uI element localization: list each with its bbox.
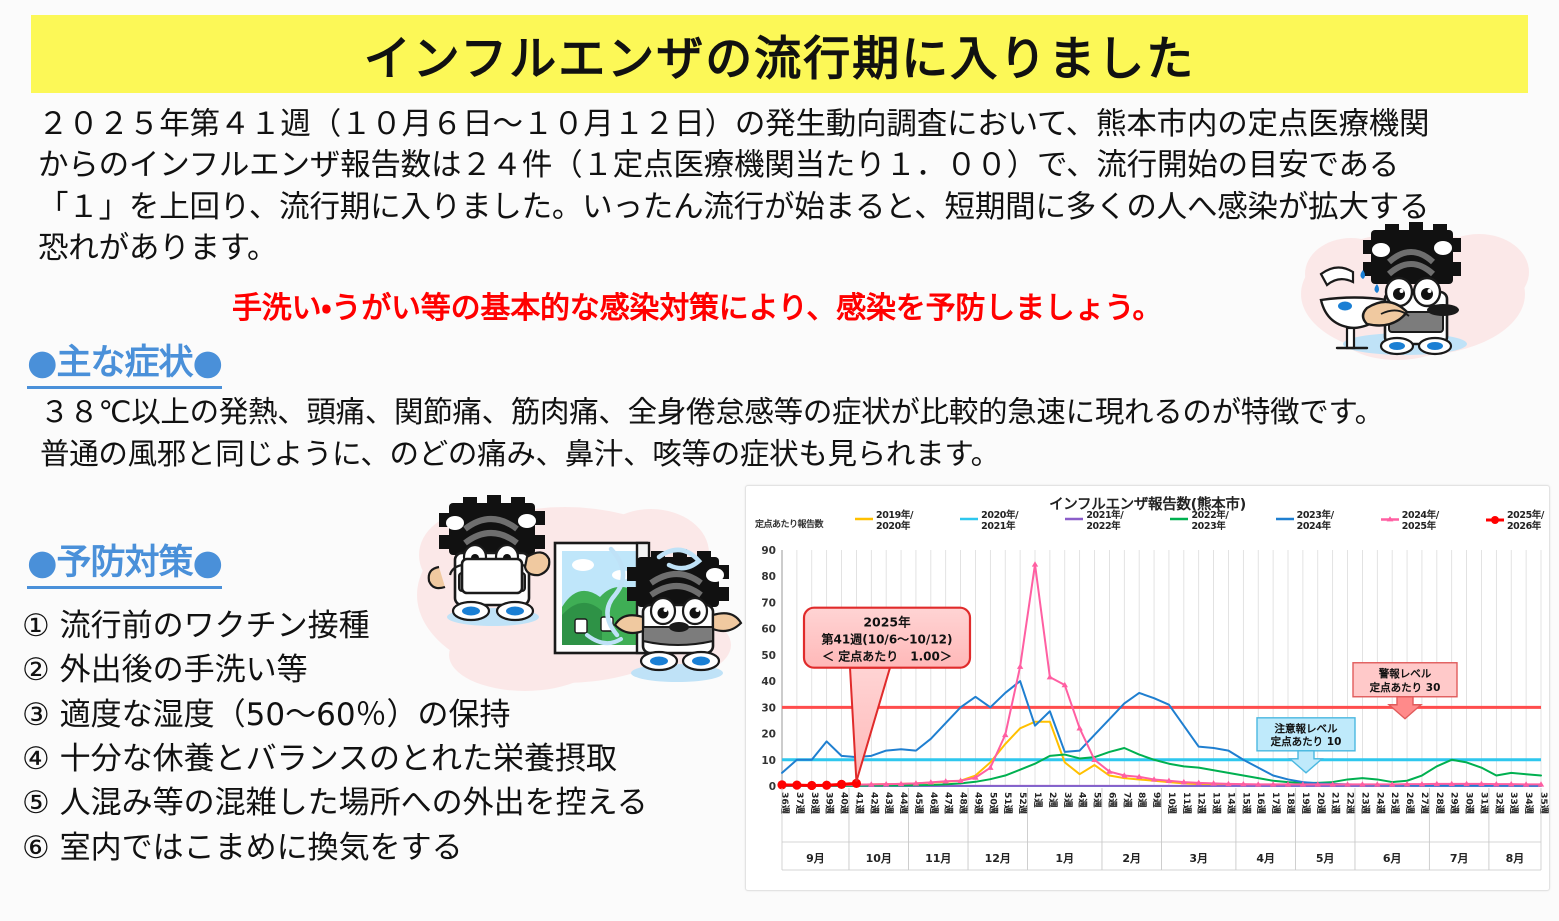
x-axis-tick-label: 49週 (972, 792, 983, 815)
x-axis-tick-label: 14週 (1225, 792, 1236, 815)
x-axis-tick-label: 26週 (1404, 792, 1415, 815)
x-axis-tick-label: 46週 (928, 792, 939, 815)
x-axis-tick-label: 36週 (779, 792, 790, 815)
x-axis-tick-label: 25週 (1389, 792, 1400, 815)
x-axis-tick-label: 45週 (913, 792, 924, 815)
x-axis-tick-label: 44週 (898, 792, 909, 815)
y-axis-tick-label: 70 (761, 597, 776, 609)
legend-swatch-icon (1169, 515, 1189, 523)
x-axis-tick-label: 2週 (1047, 792, 1058, 808)
x-axis-tick-label: 27週 (1419, 792, 1430, 815)
x-axis-tick-label: 15週 (1240, 792, 1251, 815)
x-axis-month-label: 4月 (1256, 852, 1275, 865)
x-axis-tick-label: 1週 (1032, 792, 1043, 808)
y-axis-tick-label: 80 (761, 571, 776, 583)
x-axis-tick-label: 20週 (1315, 792, 1326, 815)
prevention-item: ① 流行前のワクチン接種 (22, 604, 648, 648)
callout-line: 2025年 (863, 615, 911, 630)
y-axis-tick-label: 60 (761, 624, 776, 636)
warning-level-line: 警報レベル (1379, 667, 1432, 680)
x-axis-tick-label: 16週 (1255, 792, 1266, 815)
page-title: インフルエンザの流行期に入りました (364, 20, 1196, 89)
legend-label: 2019年/2020年 (876, 510, 913, 532)
x-axis-tick-label: 40週 (839, 792, 850, 815)
x-axis-tick-label: 17週 (1270, 792, 1281, 815)
chart-plot-area: 010203040506070809036週37週38週39週40週41週42週… (746, 544, 1549, 889)
x-axis-tick-label: 6週 (1106, 792, 1117, 808)
legend-item: 2023年/2024年 (1275, 510, 1334, 532)
legend-swatch-icon (1485, 515, 1505, 525)
x-axis-month-label: 1月 (1055, 852, 1074, 865)
legend-swatch-icon (959, 515, 979, 523)
x-axis-tick-label: 38週 (809, 792, 820, 815)
x-axis-month-label: 6月 (1383, 852, 1402, 865)
x-axis-month-label: 11月 (925, 852, 951, 865)
symptoms-body: ３８℃以上の発熱、頭痛、関節痛、筋肉痛、全身倦怠感等の症状が比較的急速に現れるの… (40, 392, 1540, 476)
x-axis-tick-label: 41週 (853, 792, 864, 815)
x-axis-tick-label: 30週 (1464, 792, 1475, 815)
prevention-item: ③ 適度な湿度（50〜60％）の保持 (22, 693, 648, 737)
x-axis-tick-label: 51週 (1002, 792, 1013, 815)
symptoms-line-2: 普通の風邪と同じように、のどの痛み、鼻汁、咳等の症状も見られます。 (40, 434, 1540, 476)
x-axis-tick-label: 34週 (1523, 792, 1534, 815)
x-axis-tick-label: 19週 (1300, 792, 1311, 815)
y-axis-tick-label: 20 (761, 729, 776, 741)
x-axis-tick-label: 32週 (1493, 792, 1504, 815)
x-axis-tick-label: 29週 (1449, 792, 1460, 815)
x-axis-month-label: 2月 (1122, 852, 1141, 865)
y-axis-tick-label: 0 (769, 781, 776, 793)
x-axis-tick-label: 9週 (1151, 792, 1162, 808)
legend-item: 2025年/2026年 (1485, 510, 1544, 532)
legend-label: 2022年/2023年 (1191, 510, 1228, 532)
warning-level-line: 定点あたり 30 (1369, 681, 1441, 694)
x-axis-month-label: 8月 (1506, 852, 1525, 865)
legend-label: 2025年/2026年 (1507, 510, 1544, 532)
x-axis-tick-label: 23週 (1359, 792, 1370, 815)
prevention-item: ⑥ 室内ではこまめに換気をする (22, 826, 648, 870)
x-axis-tick-label: 11週 (1181, 792, 1192, 815)
chart-legend: 2019年/2020年 2020年/2021年 2021年/2022年 2022… (854, 510, 1544, 544)
influenza-chart-panel: インフルエンザ報告数(熊本市) 定点あたり報告数 2019年/2020年 202… (745, 485, 1550, 891)
legend-label: 2020年/2021年 (981, 510, 1018, 532)
legend-swatch-icon (1380, 515, 1400, 524)
x-axis-tick-label: 39週 (824, 792, 835, 815)
x-axis-month-label: 3月 (1189, 852, 1208, 865)
x-axis-tick-label: 24週 (1374, 792, 1385, 815)
x-axis-tick-label: 12週 (1196, 792, 1207, 815)
legend-item: 2021年/2022年 (1064, 510, 1123, 532)
x-axis-tick-label: 7週 (1121, 792, 1132, 808)
legend-item: 2024年/2025年 (1380, 510, 1439, 532)
prevention-list: ① 流行前のワクチン接種 ② 外出後の手洗い等 ③ 適度な湿度（50〜60％）の… (22, 604, 648, 870)
x-axis-tick-label: 18週 (1285, 792, 1296, 815)
intro-line-1: ２０２５年第４１週（１０月６日〜１０月１２日）の発生動向調査において、熊本市内の… (38, 104, 1538, 145)
x-axis-tick-label: 3週 (1062, 792, 1073, 808)
callout-line: ＜ 定点あたり 1.00＞ (822, 649, 952, 664)
legend-swatch-icon (854, 515, 874, 523)
legend-label: 2021年/2022年 (1086, 510, 1123, 532)
legend-swatch-icon (1275, 515, 1295, 523)
chart-y-axis-label: 定点あたり報告数 (755, 517, 823, 530)
x-axis-tick-label: 43週 (883, 792, 894, 815)
advisory-level-line: 注意報レベル (1275, 722, 1338, 735)
x-axis-tick-label: 47週 (943, 792, 954, 815)
intro-line-3: 「１」を上回り、流行期に入りました。いったん流行が始まると、短期間に多くの人へ感… (38, 187, 1538, 228)
x-axis-tick-label: 33週 (1508, 792, 1519, 815)
poster-page: インフルエンザの流行期に入りました ２０２５年第４１週（１０月６日〜１０月１２日… (0, 0, 1559, 921)
title-banner: インフルエンザの流行期に入りました (31, 15, 1528, 93)
prevention-item: ⑤ 人混み等の混雑した場所への外出を控える (22, 781, 648, 825)
x-axis-tick-label: 10週 (1166, 792, 1177, 815)
x-axis-tick-label: 42週 (868, 792, 879, 815)
x-axis-tick-label: 13週 (1211, 792, 1222, 815)
x-axis-tick-label: 35週 (1538, 792, 1549, 815)
legend-label: 2023年/2024年 (1297, 510, 1334, 532)
legend-item: 2019年/2020年 (854, 510, 913, 532)
y-axis-tick-label: 30 (761, 702, 776, 714)
emphasis-text: 手洗い・うがい等の基本的な感染対策により、感染を予防しましょう。 (232, 283, 1162, 327)
x-axis-tick-label: 31週 (1478, 792, 1489, 815)
y-axis-tick-label: 40 (761, 676, 776, 688)
x-axis-month-label: 9月 (806, 852, 825, 865)
x-axis-tick-label: 52週 (1017, 792, 1028, 815)
prevention-item: ② 外出後の手洗い等 (22, 648, 648, 692)
legend-item: 2020年/2021年 (959, 510, 1018, 532)
x-axis-month-label: 10月 (866, 852, 892, 865)
x-axis-month-label: 7月 (1450, 852, 1469, 865)
prevention-item: ④ 十分な休養とバランスのとれた栄養摂取 (22, 737, 648, 781)
x-axis-tick-label: 21週 (1330, 792, 1341, 815)
x-axis-month-label: 5月 (1316, 852, 1335, 865)
y-axis-tick-label: 10 (761, 755, 776, 767)
legend-label: 2024年/2025年 (1402, 510, 1439, 532)
legend-swatch-icon (1064, 515, 1084, 523)
x-axis-tick-label: 4週 (1077, 792, 1088, 808)
x-axis-tick-label: 50週 (987, 792, 998, 815)
x-axis-tick-label: 5週 (1092, 792, 1103, 808)
y-axis-tick-label: 50 (761, 650, 776, 662)
section-heading-prevention: ●予防対策● (27, 534, 222, 589)
x-axis-tick-label: 37週 (794, 792, 805, 815)
section-heading-symptoms: ●主な症状● (27, 334, 222, 389)
x-axis-tick-label: 22週 (1345, 792, 1356, 815)
x-axis-month-label: 12月 (985, 852, 1011, 865)
advisory-level-line: 定点あたり 10 (1270, 735, 1342, 748)
symptoms-line-1: ３８℃以上の発熱、頭痛、関節痛、筋肉痛、全身倦怠感等の症状が比較的急速に現れるの… (40, 392, 1540, 434)
callout-line: 第41週(10/6〜10/12) (821, 632, 953, 647)
intro-line-2: からのインフルエンザ報告数は２４件（１定点医療機関当たり１．００）で、流行開始の… (38, 145, 1538, 186)
y-axis-tick-label: 90 (761, 545, 776, 557)
intro-paragraph: ２０２５年第４１週（１０月６日〜１０月１２日）の発生動向調査において、熊本市内の… (38, 104, 1538, 270)
x-axis-tick-label: 28週 (1434, 792, 1445, 815)
x-axis-tick-label: 48週 (958, 792, 969, 815)
intro-line-4: 恐れがあります。 (38, 228, 1538, 269)
legend-item: 2022年/2023年 (1169, 510, 1228, 532)
x-axis-tick-label: 8週 (1136, 792, 1147, 808)
